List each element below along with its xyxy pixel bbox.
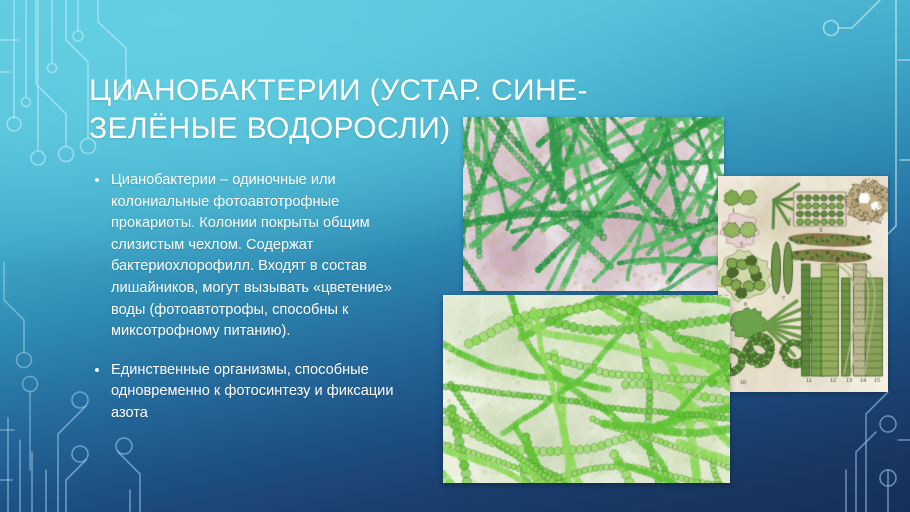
slide-canvas: ЦИАНОБАКТЕРИИ (УСТАР. СИНЕ-ЗЕЛЁНЫЕ ВОДОР…	[0, 0, 910, 512]
micrograph-green-filamentous-cyanobacteria	[463, 117, 724, 291]
bullet-dot-icon	[95, 368, 99, 372]
bullet-list: Цианобактерии – одиночные или колониальн…	[89, 170, 409, 442]
list-item: Единственные организмы, способные одновр…	[89, 360, 409, 425]
bullet-dot-icon	[95, 178, 99, 182]
bullet-text: Цианобактерии – одиночные или колониальн…	[111, 172, 392, 339]
micrograph-beaded-anabaena-chains	[443, 295, 730, 483]
bullet-text: Единственные организмы, способные одновр…	[111, 362, 393, 421]
botanical-plate-algae-numbered	[718, 176, 888, 392]
list-item: Цианобактерии – одиночные или колониальн…	[89, 170, 409, 343]
